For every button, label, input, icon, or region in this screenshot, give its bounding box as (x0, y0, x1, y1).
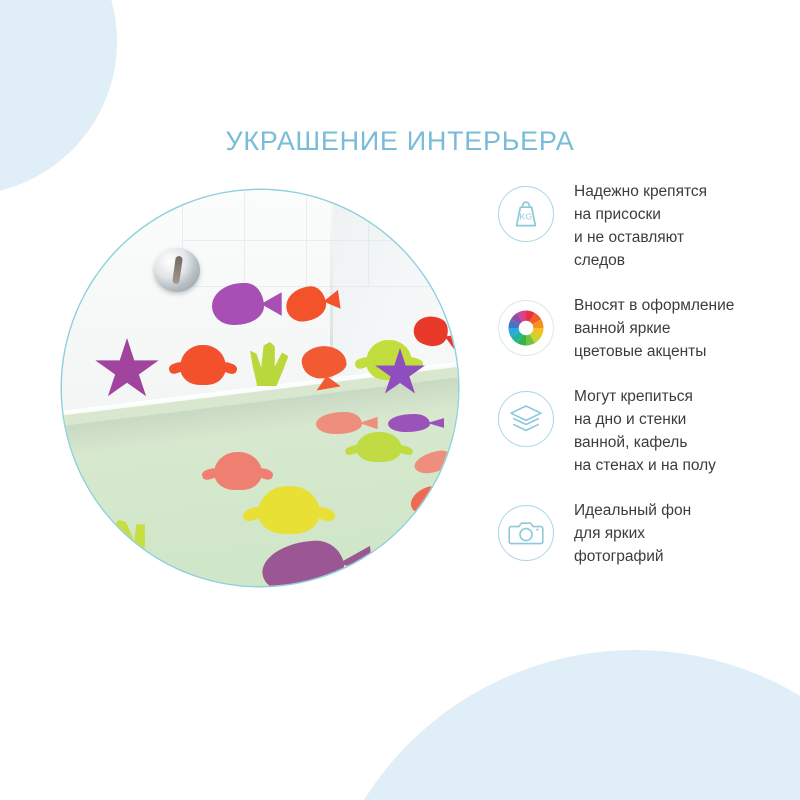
feature-line: и не оставляют (574, 226, 707, 249)
feature-line: для ярких (574, 522, 691, 545)
product-photo-circle (62, 190, 458, 586)
camera-icon (508, 519, 544, 547)
sticker-crab-orange (180, 345, 226, 385)
feature-text-suction: Надежно крепятся на присоски и не оставл… (574, 178, 707, 272)
feature-line: Надежно крепятся (574, 180, 707, 203)
feature-item-surfaces: Могут крепиться на дно и стенки ванной, … (498, 383, 788, 477)
sticker-crab-salmon (214, 452, 262, 490)
infographic-page: УКРАШЕНИЕ ИНТЕРЬЕРА (0, 0, 800, 800)
decor-blob-top-left (0, 0, 117, 195)
chrome-drain-fixture (154, 248, 200, 292)
feature-line: цветовые акценты (574, 340, 734, 363)
feature-item-photos: Идеальный фон для ярких фотографий (498, 497, 788, 568)
feature-item-suction: KG Надежно крепятся на присоски и не ост… (498, 178, 788, 272)
feature-text-surfaces: Могут крепиться на дно и стенки ванной, … (574, 383, 716, 477)
layers-stack-icon (509, 404, 543, 434)
sticker-crab-lime-far (356, 432, 402, 462)
feature-line: ванной, кафель (574, 431, 716, 454)
feature-line: Вносят в оформление (574, 294, 734, 317)
feature-text-photos: Идеальный фон для ярких фотографий (574, 497, 691, 568)
feature-text-colors: Вносят в оформление ванной яркие цветовы… (574, 292, 734, 363)
page-title: УКРАШЕНИЕ ИНТЕРЬЕРА (0, 126, 800, 157)
feature-line: на стенах и на полу (574, 454, 716, 477)
feature-line: Идеальный фон (574, 499, 691, 522)
weight-kg-icon-ring: KG (498, 186, 554, 242)
weight-kg-icon: KG (509, 198, 543, 230)
svg-text:KG: KG (519, 212, 532, 222)
sticker-fish-purple (212, 283, 264, 325)
sticker-crab-yellow (258, 486, 320, 534)
layers-stack-icon-ring (498, 391, 554, 447)
feature-line: ванной яркие (574, 317, 734, 340)
photo-scene (62, 190, 458, 586)
feature-line: на дно и стенки (574, 408, 716, 431)
sticker-fish-salmon-far (316, 412, 362, 434)
color-wheel-icon-ring (498, 300, 554, 356)
camera-icon-ring (498, 505, 554, 561)
feature-line: на присоски (574, 203, 707, 226)
color-wheel-icon (505, 307, 547, 349)
feature-line: фотографий (574, 545, 691, 568)
feature-list: KG Надежно крепятся на присоски и не ост… (498, 178, 788, 588)
feature-line: Могут крепиться (574, 385, 716, 408)
decor-blob-bottom (315, 650, 800, 800)
feature-item-colors: Вносят в оформление ванной яркие цветовы… (498, 292, 788, 363)
feature-line: следов (574, 249, 707, 272)
sticker-fish-violet-far (388, 414, 430, 432)
